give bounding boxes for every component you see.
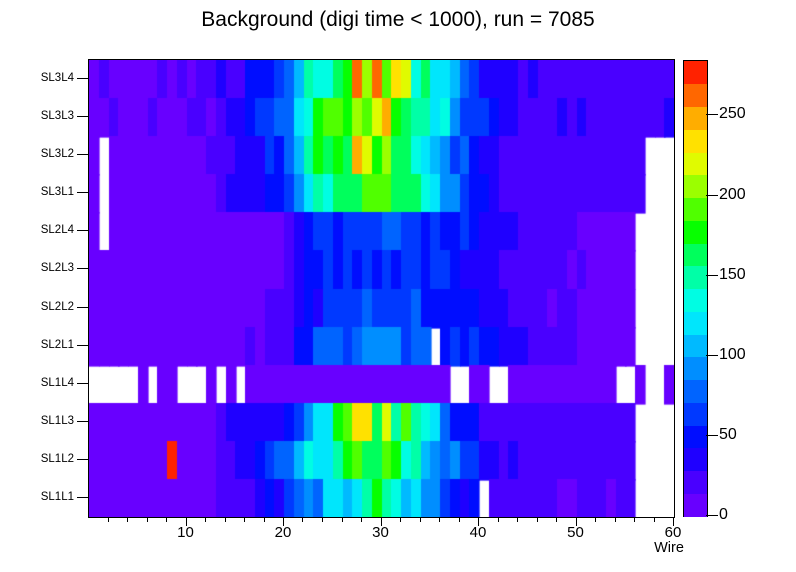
color-scale-tick bbox=[706, 275, 718, 276]
color-scale-band bbox=[684, 289, 707, 312]
y-axis-tick bbox=[77, 383, 88, 384]
color-scale-band bbox=[684, 243, 707, 266]
y-axis-tick bbox=[77, 459, 88, 460]
x-axis-minor-tick bbox=[225, 517, 226, 522]
y-axis-label-sl1l3: SL1L3 bbox=[41, 415, 74, 427]
color-scale-label-50: 50 bbox=[719, 426, 737, 444]
x-axis-minor-tick bbox=[108, 517, 109, 522]
x-axis-minor-tick bbox=[244, 517, 245, 522]
page-title: Background (digi time < 1000), run = 708… bbox=[0, 8, 796, 32]
x-axis-minor-tick bbox=[205, 517, 206, 522]
y-axis-tick bbox=[77, 345, 88, 346]
x-axis-tick-label-30: 30 bbox=[372, 524, 389, 541]
color-scale-band bbox=[684, 448, 707, 471]
color-scale-band bbox=[684, 220, 707, 243]
color-scale-tick bbox=[706, 114, 718, 115]
color-scale-band bbox=[684, 84, 707, 107]
y-axis-tick bbox=[77, 154, 88, 155]
y-axis-tick bbox=[77, 421, 88, 422]
color-scale-labels: 050100150200250 bbox=[719, 60, 789, 520]
color-scale-tick bbox=[706, 355, 718, 356]
color-scale-band bbox=[684, 61, 707, 84]
y-axis-tick bbox=[77, 497, 88, 498]
x-axis-minor-tick bbox=[498, 517, 499, 522]
y-axis-label-sl3l4: SL3L4 bbox=[41, 72, 74, 84]
color-scale-label-100: 100 bbox=[719, 346, 746, 364]
heatmap-plot-area bbox=[88, 59, 675, 518]
x-axis-minor-tick bbox=[615, 517, 616, 522]
x-axis-minor-tick bbox=[166, 517, 167, 522]
color-scale-band bbox=[684, 471, 707, 494]
color-scale-tick bbox=[706, 195, 718, 196]
x-axis-tick-label-50: 50 bbox=[567, 524, 584, 541]
y-axis-label-sl1l2: SL1L2 bbox=[41, 453, 74, 465]
color-scale-label-150: 150 bbox=[719, 266, 746, 284]
x-axis-minor-tick bbox=[595, 517, 596, 522]
y-axis-tick bbox=[77, 116, 88, 117]
color-scale-label-0: 0 bbox=[719, 506, 728, 524]
color-scale-band bbox=[684, 107, 707, 130]
color-scale-ticks bbox=[706, 60, 718, 517]
x-axis-minor-tick bbox=[127, 517, 128, 522]
y-axis-label-sl2l3: SL2L3 bbox=[41, 262, 74, 274]
x-axis-minor-tick bbox=[556, 517, 557, 522]
x-axis-title: Wire bbox=[654, 540, 684, 556]
x-axis-minor-tick bbox=[420, 517, 421, 522]
x-axis-labels: 102030405060 bbox=[88, 524, 675, 544]
y-axis: SL3L4SL3L3SL3L2SL3L1SL2L4SL2L3SL2L2SL2L1… bbox=[0, 59, 84, 516]
color-scale-band bbox=[684, 493, 707, 516]
x-axis-minor-tick bbox=[634, 517, 635, 522]
y-axis-label-sl3l1: SL3L1 bbox=[41, 186, 74, 198]
y-axis-tick bbox=[77, 78, 88, 79]
x-axis-tick-label-20: 20 bbox=[275, 524, 292, 541]
color-scale-band bbox=[684, 198, 707, 221]
x-axis-minor-tick bbox=[361, 517, 362, 522]
x-axis-minor-tick bbox=[400, 517, 401, 522]
x-axis-tick-label-10: 10 bbox=[177, 524, 194, 541]
y-axis-label-sl2l2: SL2L2 bbox=[41, 301, 74, 313]
y-axis-label-sl2l4: SL2L4 bbox=[41, 224, 74, 236]
y-axis-tick bbox=[77, 307, 88, 308]
x-axis-minor-tick bbox=[439, 517, 440, 522]
color-scale-tick bbox=[706, 515, 718, 516]
y-axis-label-sl1l4: SL1L4 bbox=[41, 377, 74, 389]
x-axis-minor-tick bbox=[459, 517, 460, 522]
color-scale-band bbox=[684, 425, 707, 448]
color-scale-bar bbox=[683, 60, 708, 517]
y-axis-label-sl1l1: SL1L1 bbox=[41, 491, 74, 503]
x-axis-minor-tick bbox=[302, 517, 303, 522]
color-scale-tick bbox=[706, 435, 718, 436]
color-scale-band bbox=[684, 311, 707, 334]
x-axis-minor-tick bbox=[654, 517, 655, 522]
y-axis-label-sl3l3: SL3L3 bbox=[41, 110, 74, 122]
color-scale-band bbox=[684, 380, 707, 403]
y-axis-label-sl3l2: SL3L2 bbox=[41, 148, 74, 160]
color-scale-band bbox=[684, 266, 707, 289]
x-axis-minor-tick bbox=[322, 517, 323, 522]
x-axis-minor-tick bbox=[147, 517, 148, 522]
color-scale-band bbox=[684, 175, 707, 198]
heatmap-canvas bbox=[89, 60, 674, 517]
color-scale-label-250: 250 bbox=[719, 105, 746, 123]
x-axis-minor-tick bbox=[342, 517, 343, 522]
x-axis-minor-tick bbox=[517, 517, 518, 522]
color-scale-band bbox=[684, 402, 707, 425]
x-axis-minor-tick bbox=[537, 517, 538, 522]
x-axis-tick-label-40: 40 bbox=[470, 524, 487, 541]
y-axis-tick bbox=[77, 230, 88, 231]
y-axis-tick bbox=[77, 192, 88, 193]
x-axis-tick-label-60: 60 bbox=[665, 524, 682, 541]
y-axis-label-sl2l1: SL2L1 bbox=[41, 339, 74, 351]
y-axis-tick bbox=[77, 268, 88, 269]
color-scale-band bbox=[684, 152, 707, 175]
color-scale-label-200: 200 bbox=[719, 186, 746, 204]
color-scale-band bbox=[684, 129, 707, 152]
color-scale-band bbox=[684, 357, 707, 380]
x-axis-minor-tick bbox=[264, 517, 265, 522]
color-scale-band bbox=[684, 334, 707, 357]
